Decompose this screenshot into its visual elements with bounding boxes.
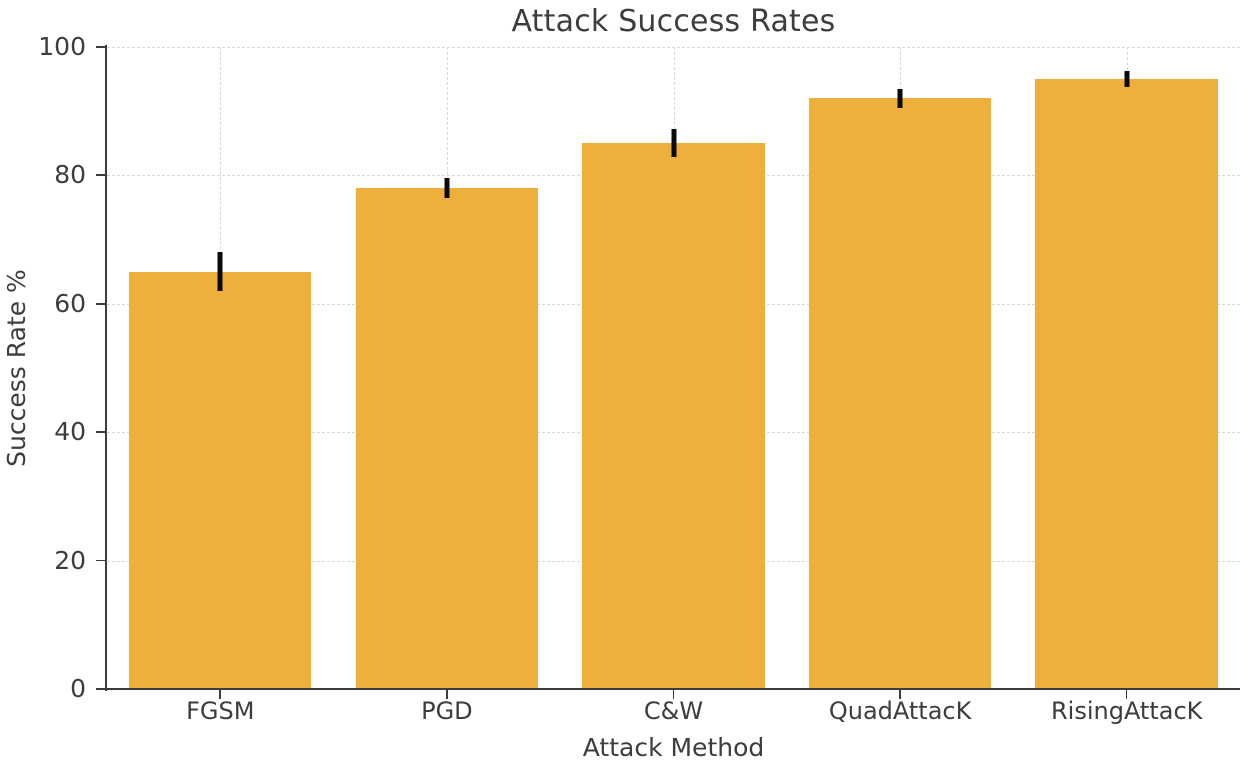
chart-title: Attack Success Rates bbox=[107, 4, 1240, 39]
y-tick-mark bbox=[96, 303, 106, 305]
y-tick-label: 60 bbox=[54, 291, 86, 316]
error-bar-quadattack bbox=[898, 89, 903, 108]
y-tick-label: 20 bbox=[54, 548, 86, 573]
error-bar-c-w bbox=[671, 129, 676, 157]
bar-risingattack bbox=[1035, 79, 1217, 689]
y-tick-mark bbox=[96, 431, 106, 433]
plot-area bbox=[107, 47, 1240, 689]
x-tick-label-fgsm: FGSM bbox=[186, 698, 254, 726]
y-tick-mark bbox=[96, 46, 106, 48]
x-tick-label-pgd: PGD bbox=[421, 698, 473, 726]
x-tick-label-c-w: C&W bbox=[644, 698, 703, 726]
bar-fgsm bbox=[129, 272, 311, 689]
bar-quadattack bbox=[809, 98, 991, 689]
error-bar-pgd bbox=[444, 178, 449, 199]
x-axis-label: Attack Method bbox=[107, 733, 1240, 762]
y-axis-label: Success Rate % bbox=[0, 47, 34, 689]
error-bar-risingattack bbox=[1124, 71, 1129, 86]
y-tick-label: 0 bbox=[70, 676, 86, 701]
bar-pgd bbox=[356, 188, 538, 689]
y-tick-mark bbox=[96, 174, 106, 176]
y-axis-spine bbox=[105, 45, 107, 691]
y-tick-label: 100 bbox=[38, 34, 86, 59]
error-bar-fgsm bbox=[218, 252, 223, 291]
y-tick-label: 40 bbox=[54, 419, 86, 444]
y-tick-mark bbox=[96, 688, 106, 690]
x-tick-label-risingattack: RisingAttacK bbox=[1051, 698, 1202, 726]
bar-c-w bbox=[582, 143, 764, 689]
y-tick-mark bbox=[96, 560, 106, 562]
chart-figure: Attack Success Rates 020406080100 FGSMPG… bbox=[0, 0, 1248, 770]
x-tick-label-quadattack: QuadAttacK bbox=[829, 698, 972, 726]
y-tick-label: 80 bbox=[54, 162, 86, 187]
